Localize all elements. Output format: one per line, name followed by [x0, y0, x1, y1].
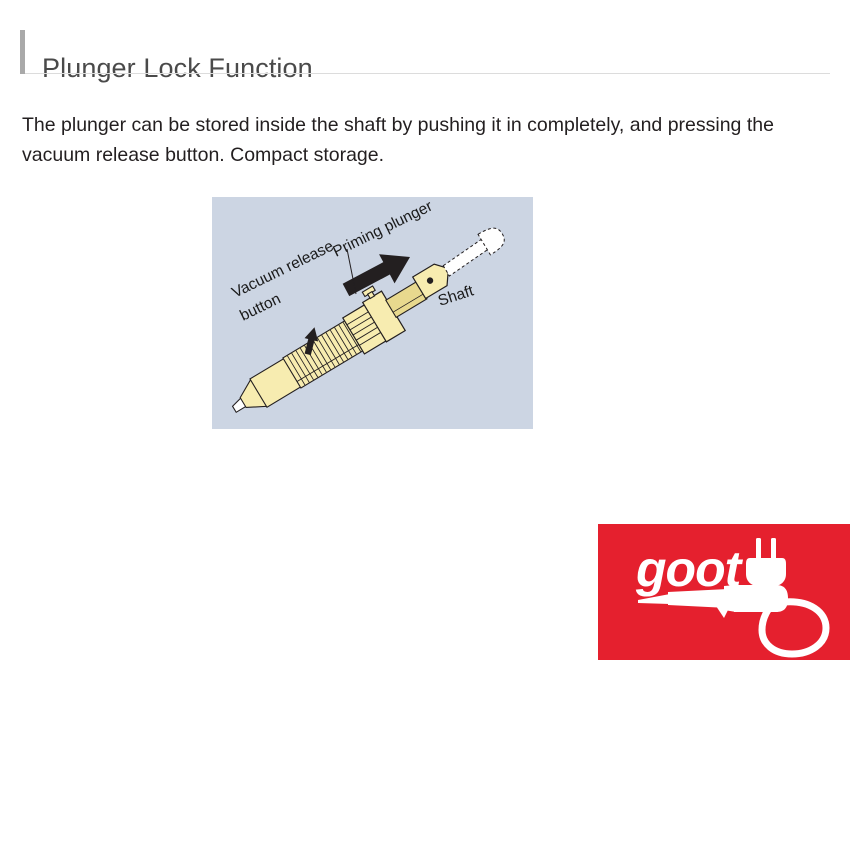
pump-assembly: [217, 215, 520, 427]
body-text-block: The plunger can be stored inside the sha…: [22, 110, 812, 170]
product-diagram-figure: Vacuum release button Priming plunger Sh…: [212, 197, 533, 429]
desoldering-pump-illustration: Vacuum release button Priming plunger Sh…: [212, 197, 533, 429]
heading-accent-bar: [20, 30, 25, 74]
body-paragraph: The plunger can be stored inside the sha…: [22, 110, 812, 170]
label-priming-plunger: Priming plunger: [330, 198, 435, 261]
goot-logo-mark: goot: [598, 524, 850, 660]
shaft-rod: [442, 239, 490, 276]
page-title: Plunger Lock Function: [42, 46, 313, 90]
heading-divider: [25, 73, 830, 74]
page-header: Plunger Lock Function: [20, 30, 830, 75]
diagram-labels: Vacuum release button Priming plunger Sh…: [229, 198, 476, 325]
label-vacuum-release-line1: Vacuum release: [229, 238, 336, 302]
goot-brand-logo: goot: [598, 524, 850, 660]
